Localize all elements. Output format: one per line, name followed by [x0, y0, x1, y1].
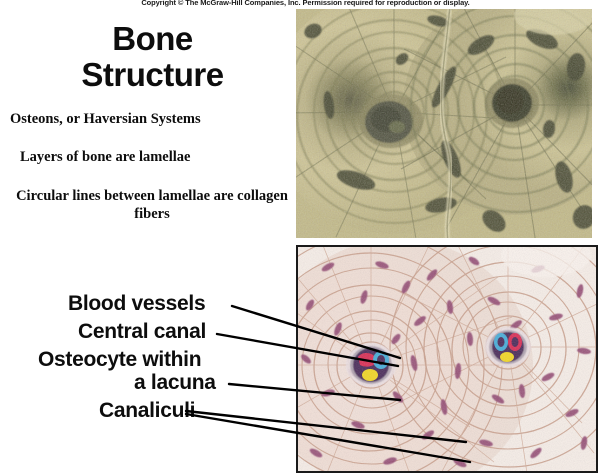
callout-label-osteocyte: Osteocyte within: [38, 348, 201, 371]
micrograph-render: [296, 9, 592, 238]
page-title-line-1: Bone: [20, 21, 285, 57]
page-title-line-2: Structure: [20, 57, 285, 93]
osteon-diagram-render: [298, 247, 596, 471]
callout-label-canaliculi: Canaliculi: [99, 399, 195, 422]
note-collagen: Circular lines between lamellae are coll…: [16, 187, 288, 223]
note-lamellae: Layers of bone are lamellae: [20, 148, 295, 166]
osteon-illustration: [296, 245, 598, 473]
callout-label-central-canal: Central canal: [78, 320, 206, 343]
page-title: Bone Structure: [20, 21, 285, 93]
callout-label-blood-vessels: Blood vessels: [68, 292, 205, 315]
note-osteons: Osteons, or Haversian Systems: [10, 110, 285, 128]
copyright-notice: Copyright © The McGraw-Hill Companies, I…: [0, 0, 611, 7]
callout-label-a-lacuna: a lacuna: [134, 371, 216, 394]
compact-bone-micrograph: [296, 9, 592, 238]
